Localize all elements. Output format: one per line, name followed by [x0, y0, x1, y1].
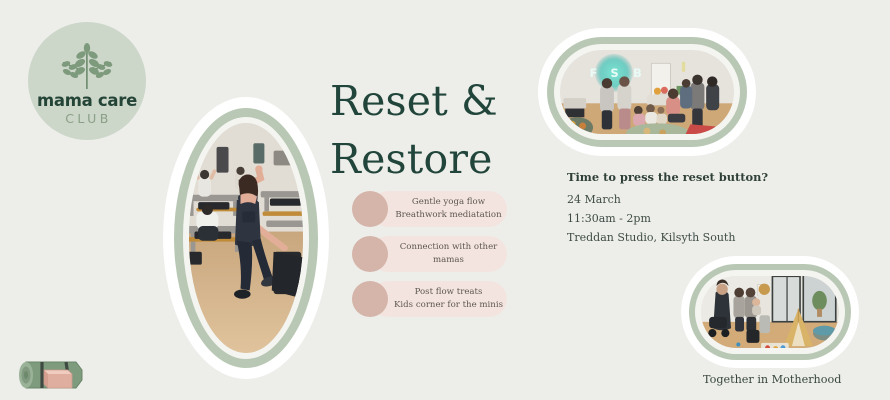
hero-frame-ring-white: [183, 117, 309, 359]
rolled-yoga-mat-with-block-icon: [14, 348, 88, 394]
hero-frame-ring-sage: [174, 108, 318, 368]
svg-text:B: B: [633, 67, 642, 80]
event-time: 11:30am - 2pm: [567, 210, 847, 229]
feature-text-line-1: Connection with other: [400, 241, 498, 254]
feature-text-line-1: Gentle yoga flow: [412, 196, 485, 209]
feature-text-line-2: mamas: [433, 254, 464, 267]
feature-text-line-2: Kids corner for the minis: [394, 299, 503, 312]
bottom-right-photo-frame: [681, 256, 859, 368]
event-location: Treddan Studio, Kilsyth South: [567, 229, 847, 248]
brand-logo: mama care CLUB: [28, 22, 146, 140]
feature-text: Gentle yoga flow Breathwork mediatation: [390, 191, 507, 227]
feature-bullet-dot: [352, 236, 388, 272]
logo-name: mama care: [37, 93, 137, 110]
bottom-right-frame-ring-sage: [689, 264, 851, 360]
feature-bullet-dot: [352, 281, 388, 317]
botanical-leaves-icon: [54, 39, 120, 91]
svg-text:F: F: [590, 67, 598, 80]
feature-item: Connection with other mamas: [352, 236, 507, 272]
logo-subtitle: CLUB: [62, 113, 111, 126]
svg-text:S: S: [610, 67, 618, 80]
feature-item: Post flow treats Kids corner for the min…: [352, 281, 507, 317]
feature-text-line-1: Post flow treats: [415, 286, 483, 299]
hero-photo: [189, 123, 303, 353]
poster-title: Reset & Restore: [330, 72, 520, 188]
top-right-frame-ring-white: F S B: [554, 44, 740, 140]
feature-text: Connection with other mamas: [390, 236, 507, 272]
feature-text: Post flow treats Kids corner for the min…: [390, 281, 507, 317]
event-headline: Time to press the reset button?: [567, 170, 847, 184]
event-details: Time to press the reset button? 24 March…: [567, 170, 847, 248]
feature-text-line-2: Breathwork mediatation: [395, 209, 501, 222]
top-right-photo-frame: F S B: [538, 28, 756, 156]
feature-bullet-dot: [352, 191, 388, 227]
top-right-photo: F S B: [560, 50, 734, 134]
top-right-frame-ring-sage: F S B: [547, 37, 747, 147]
event-date: 24 March: [567, 191, 847, 210]
tagline: Together in Motherhood: [703, 373, 841, 386]
bottom-right-frame-ring-white: [695, 270, 845, 354]
poster-canvas: mama care CLUB: [0, 0, 890, 400]
hero-photo-frame: [163, 97, 329, 379]
title-line-1: Reset &: [330, 72, 520, 130]
feature-list: Gentle yoga flow Breathwork mediatation …: [352, 191, 507, 326]
title-line-2: Restore: [330, 130, 520, 188]
feature-item: Gentle yoga flow Breathwork mediatation: [352, 191, 507, 227]
bottom-right-photo: [701, 276, 839, 348]
